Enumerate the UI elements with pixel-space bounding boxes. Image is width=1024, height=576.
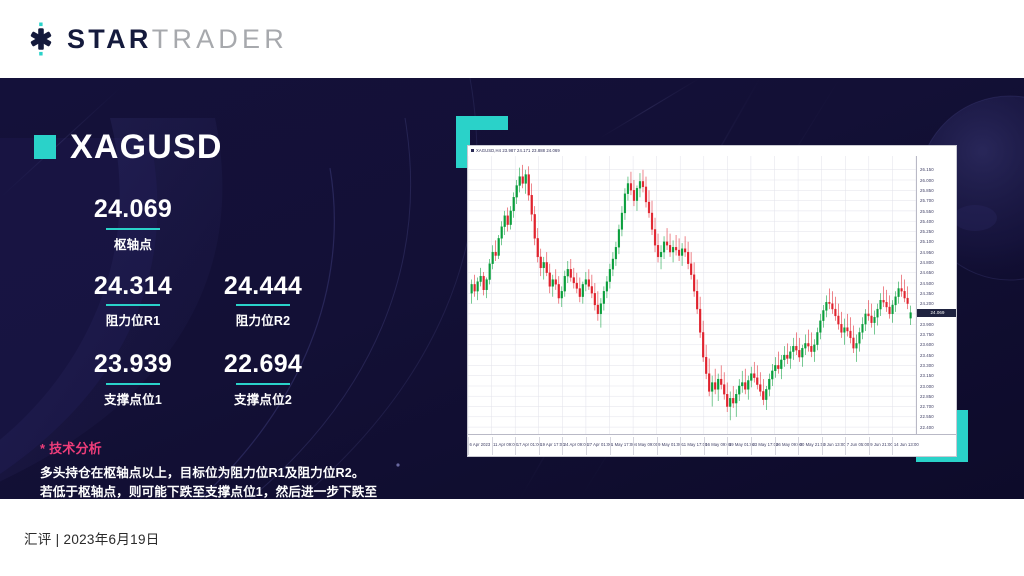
- stat-underline: [106, 228, 160, 230]
- left-info-column: XAGUSD 24.069 枢轴点 24.314 阻力位R1 24.444 阻力…: [34, 130, 434, 499]
- stat-resistance-2: 24.444 阻力位R2: [198, 273, 328, 330]
- chart-title: XAGUSD,H4 23.987 24.171 23.888 24.069: [468, 146, 956, 156]
- technical-analysis-block: * 技术分析 多头持仓在枢轴点以上，目标位为阻力位R1及阻力位R2。 若低于枢轴…: [40, 438, 420, 500]
- time-axis-tick: 14 Jun 13:00: [894, 442, 919, 447]
- time-axis-tick: 9 Jun 21:00: [870, 442, 892, 447]
- time-axis-tick: 24 Apr 09:00: [564, 442, 588, 447]
- price-axis-tick: 23.150: [920, 373, 934, 378]
- analysis-line-1: 多头持仓在枢轴点以上，目标位为阻力位R1及阻力位R2。: [40, 464, 420, 484]
- price-axis-tick: 25.550: [920, 209, 934, 214]
- time-axis-tick: 17 Apr 01:00: [517, 442, 541, 447]
- price-axis-tick: 26.000: [920, 178, 934, 183]
- stat-label: 枢轴点: [68, 234, 198, 253]
- analysis-line-2: 若低于枢轴点，则可能下跌至支撑点位1，然后进一步下跌至: [40, 483, 420, 499]
- poster-root: STARTRADER: [0, 0, 1024, 576]
- price-axis-tick: 25.700: [920, 198, 934, 203]
- footer-caption: 汇评 | 2023年6月19日: [24, 528, 160, 548]
- stat-support-1: 23.939 支撑点位1: [68, 351, 198, 408]
- stat-value: 23.939: [68, 351, 198, 383]
- chart-title-text: XAGUSD,H4 23.987 24.171 23.888 24.069: [476, 148, 560, 153]
- chart-time-axis: 6 Apr 202311 Apr 09:0017 Apr 01:0019 Apr…: [468, 434, 957, 457]
- time-axis-tick: 9 May 01:00: [658, 442, 682, 447]
- stat-label: 支撑点位1: [68, 389, 198, 408]
- stat-underline: [236, 304, 290, 306]
- stat-resistance-1: 24.314 阻力位R1: [68, 273, 198, 330]
- stat-label: 支撑点位2: [198, 389, 328, 408]
- price-axis-tick: 25.250: [920, 229, 934, 234]
- price-axis-tick: 23.600: [920, 342, 934, 347]
- stat-underline: [236, 383, 290, 385]
- price-axis-tick: 24.950: [920, 250, 934, 255]
- price-axis-tick: 23.450: [920, 353, 934, 358]
- price-axis-tick: 22.850: [920, 394, 934, 399]
- price-axis-tick: 23.300: [920, 363, 934, 368]
- price-axis-tick: 25.850: [920, 188, 934, 193]
- time-axis-tick: 27 Apr 01:00: [587, 442, 611, 447]
- stat-value: 24.444: [198, 273, 328, 305]
- stat-label: 阻力位R2: [198, 310, 328, 329]
- chart-plot-area[interactable]: [468, 156, 916, 434]
- page-title: XAGUSD: [70, 130, 223, 164]
- stat-support-2: 22.694 支撑点位2: [198, 351, 328, 408]
- page-footer: 汇评 | 2023年6月19日: [0, 499, 1024, 576]
- brand-logo[interactable]: STARTRADER: [24, 22, 288, 56]
- price-axis-tick: 24.500: [920, 281, 934, 286]
- brand-name-light: TRADER: [152, 26, 288, 53]
- stat-underline: [106, 304, 160, 306]
- price-axis-tick: 25.400: [920, 219, 934, 224]
- brand-wordmark: STARTRADER: [67, 26, 288, 53]
- price-axis-tick: 23.000: [920, 384, 934, 389]
- time-axis-tick: 1 May 17:00: [611, 442, 635, 447]
- symbol-title-row: XAGUSD: [34, 130, 434, 164]
- candlestick-series: [468, 156, 916, 434]
- analysis-heading: * 技术分析: [40, 438, 420, 457]
- analysis-text: 多头持仓在枢轴点以上，目标位为阻力位R1及阻力位R2。 若低于枢轴点，则可能下跌…: [40, 464, 420, 500]
- price-axis-tick: 26.150: [920, 167, 934, 172]
- stats-grid: 24.314 阻力位R1 24.444 阻力位R2 23.939 支撑点位1 2…: [68, 273, 338, 408]
- price-axis-tick: 22.700: [920, 404, 934, 409]
- price-axis-tick: 24.350: [920, 291, 934, 296]
- brand-name-bold: STAR: [67, 26, 152, 53]
- stat-value: 24.069: [68, 196, 198, 228]
- price-axis-tick: 25.100: [920, 239, 934, 244]
- price-axis-tick: 22.400: [920, 425, 934, 430]
- time-axis-tick: 19 Apr 17:00: [540, 442, 564, 447]
- stat-value: 22.694: [198, 351, 328, 383]
- stat-value: 24.314: [68, 273, 198, 305]
- stat-label: 阻力位R1: [68, 310, 198, 329]
- price-axis-tick: 23.750: [920, 332, 934, 337]
- chart-price-axis: 26.15026.00025.85025.70025.55025.40025.2…: [916, 156, 957, 434]
- star-asterisk-icon: [24, 22, 58, 56]
- stat-underline: [106, 383, 160, 385]
- page-header: STARTRADER: [0, 0, 1024, 78]
- price-axis-tick: 24.800: [920, 260, 934, 265]
- stat-pivot: 24.069 枢轴点: [68, 196, 198, 253]
- chart-title-marker-icon: [471, 149, 474, 152]
- price-axis-tick: 22.550: [920, 414, 934, 419]
- time-axis-tick: 4 May 09:00: [635, 442, 659, 447]
- time-axis-tick: 2 Jun 13:00: [823, 442, 845, 447]
- time-axis-tick: 7 Jun 05:00: [847, 442, 869, 447]
- time-axis-tick: 6 Apr 2023: [470, 442, 491, 447]
- price-axis-tick: 24.200: [920, 301, 934, 306]
- time-axis-tick: 11 Apr 09:00: [493, 442, 517, 447]
- current-price-tag: 24.069: [917, 309, 957, 317]
- price-chart[interactable]: XAGUSD,H4 23.987 24.171 23.888 24.069 26…: [467, 145, 957, 457]
- main-dark-panel: XAGUSD 24.069 枢轴点 24.314 阻力位R1 24.444 阻力…: [0, 78, 1024, 499]
- price-axis-tick: 24.650: [920, 270, 934, 275]
- price-axis-tick: 23.900: [920, 322, 934, 327]
- teal-square-bullet-icon: [34, 135, 56, 159]
